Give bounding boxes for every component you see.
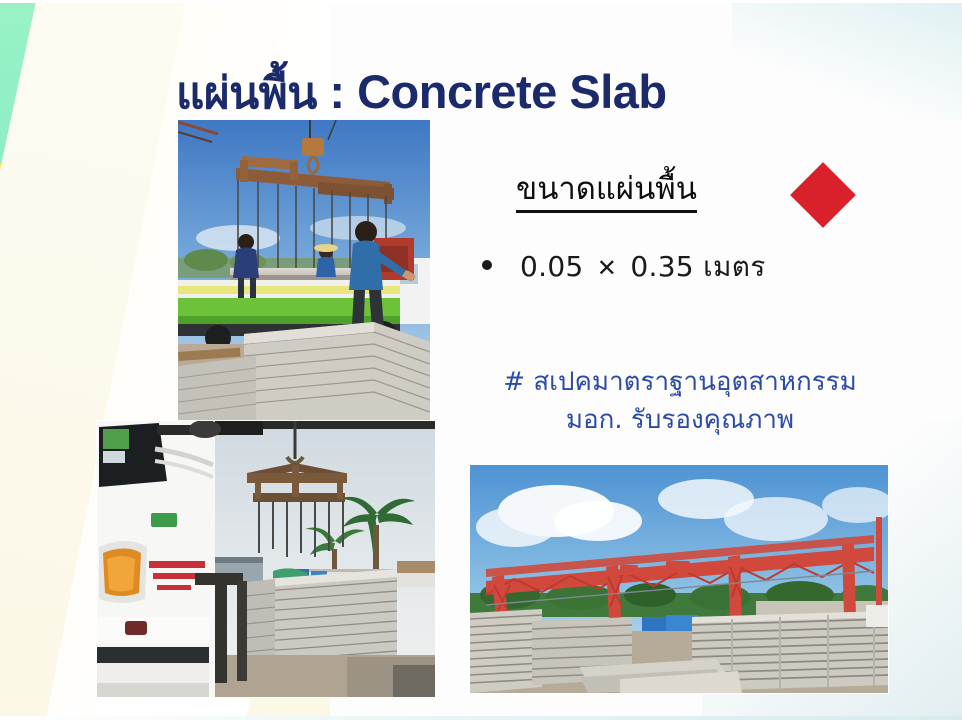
slide-bottom-edge	[0, 716, 962, 720]
photo-lifting-frame	[97, 421, 435, 697]
tis-standard-logo-icon	[788, 160, 858, 230]
slab-size-unit: เมตร	[703, 250, 765, 283]
standard-note-line-2: มอก. รับรองคุณภาพ	[470, 402, 890, 440]
page-title: แผ่นพื้น : Concrete Slab	[176, 58, 667, 128]
standard-note-line-1: # สเปคมาตราฐานอุตสาหกรรม	[470, 364, 890, 402]
slab-size-bullet-row: 0.05 ✕ 0.35 เมตร	[482, 245, 766, 289]
corner-tint-top-right	[732, 0, 962, 120]
slab-length-value: 0.35	[630, 250, 694, 283]
slab-size-value: 0.05 ✕ 0.35 เมตร	[520, 245, 766, 289]
bullet-dot-icon	[482, 260, 492, 270]
standard-note: # สเปคมาตราฐานอุตสาหกรรม มอก. รับรองคุณภ…	[470, 364, 890, 439]
page-title-thai: แผ่นพื้น	[176, 68, 317, 119]
page-title-english: Concrete Slab	[357, 65, 667, 118]
multiply-icon: ✕	[593, 254, 621, 282]
slide-top-edge	[0, 0, 962, 3]
slab-width-value: 0.05	[520, 250, 584, 283]
photo-gantry-yard	[470, 465, 888, 693]
photo-truck-unloading	[178, 120, 430, 422]
dimensions-subheading: ขนาดแผ่นพื้น	[516, 172, 697, 213]
slide-canvas: แผ่นพื้น : Concrete Slab ขนาดแผ่นพื้น 0.…	[0, 0, 962, 720]
page-title-separator: :	[317, 65, 357, 118]
